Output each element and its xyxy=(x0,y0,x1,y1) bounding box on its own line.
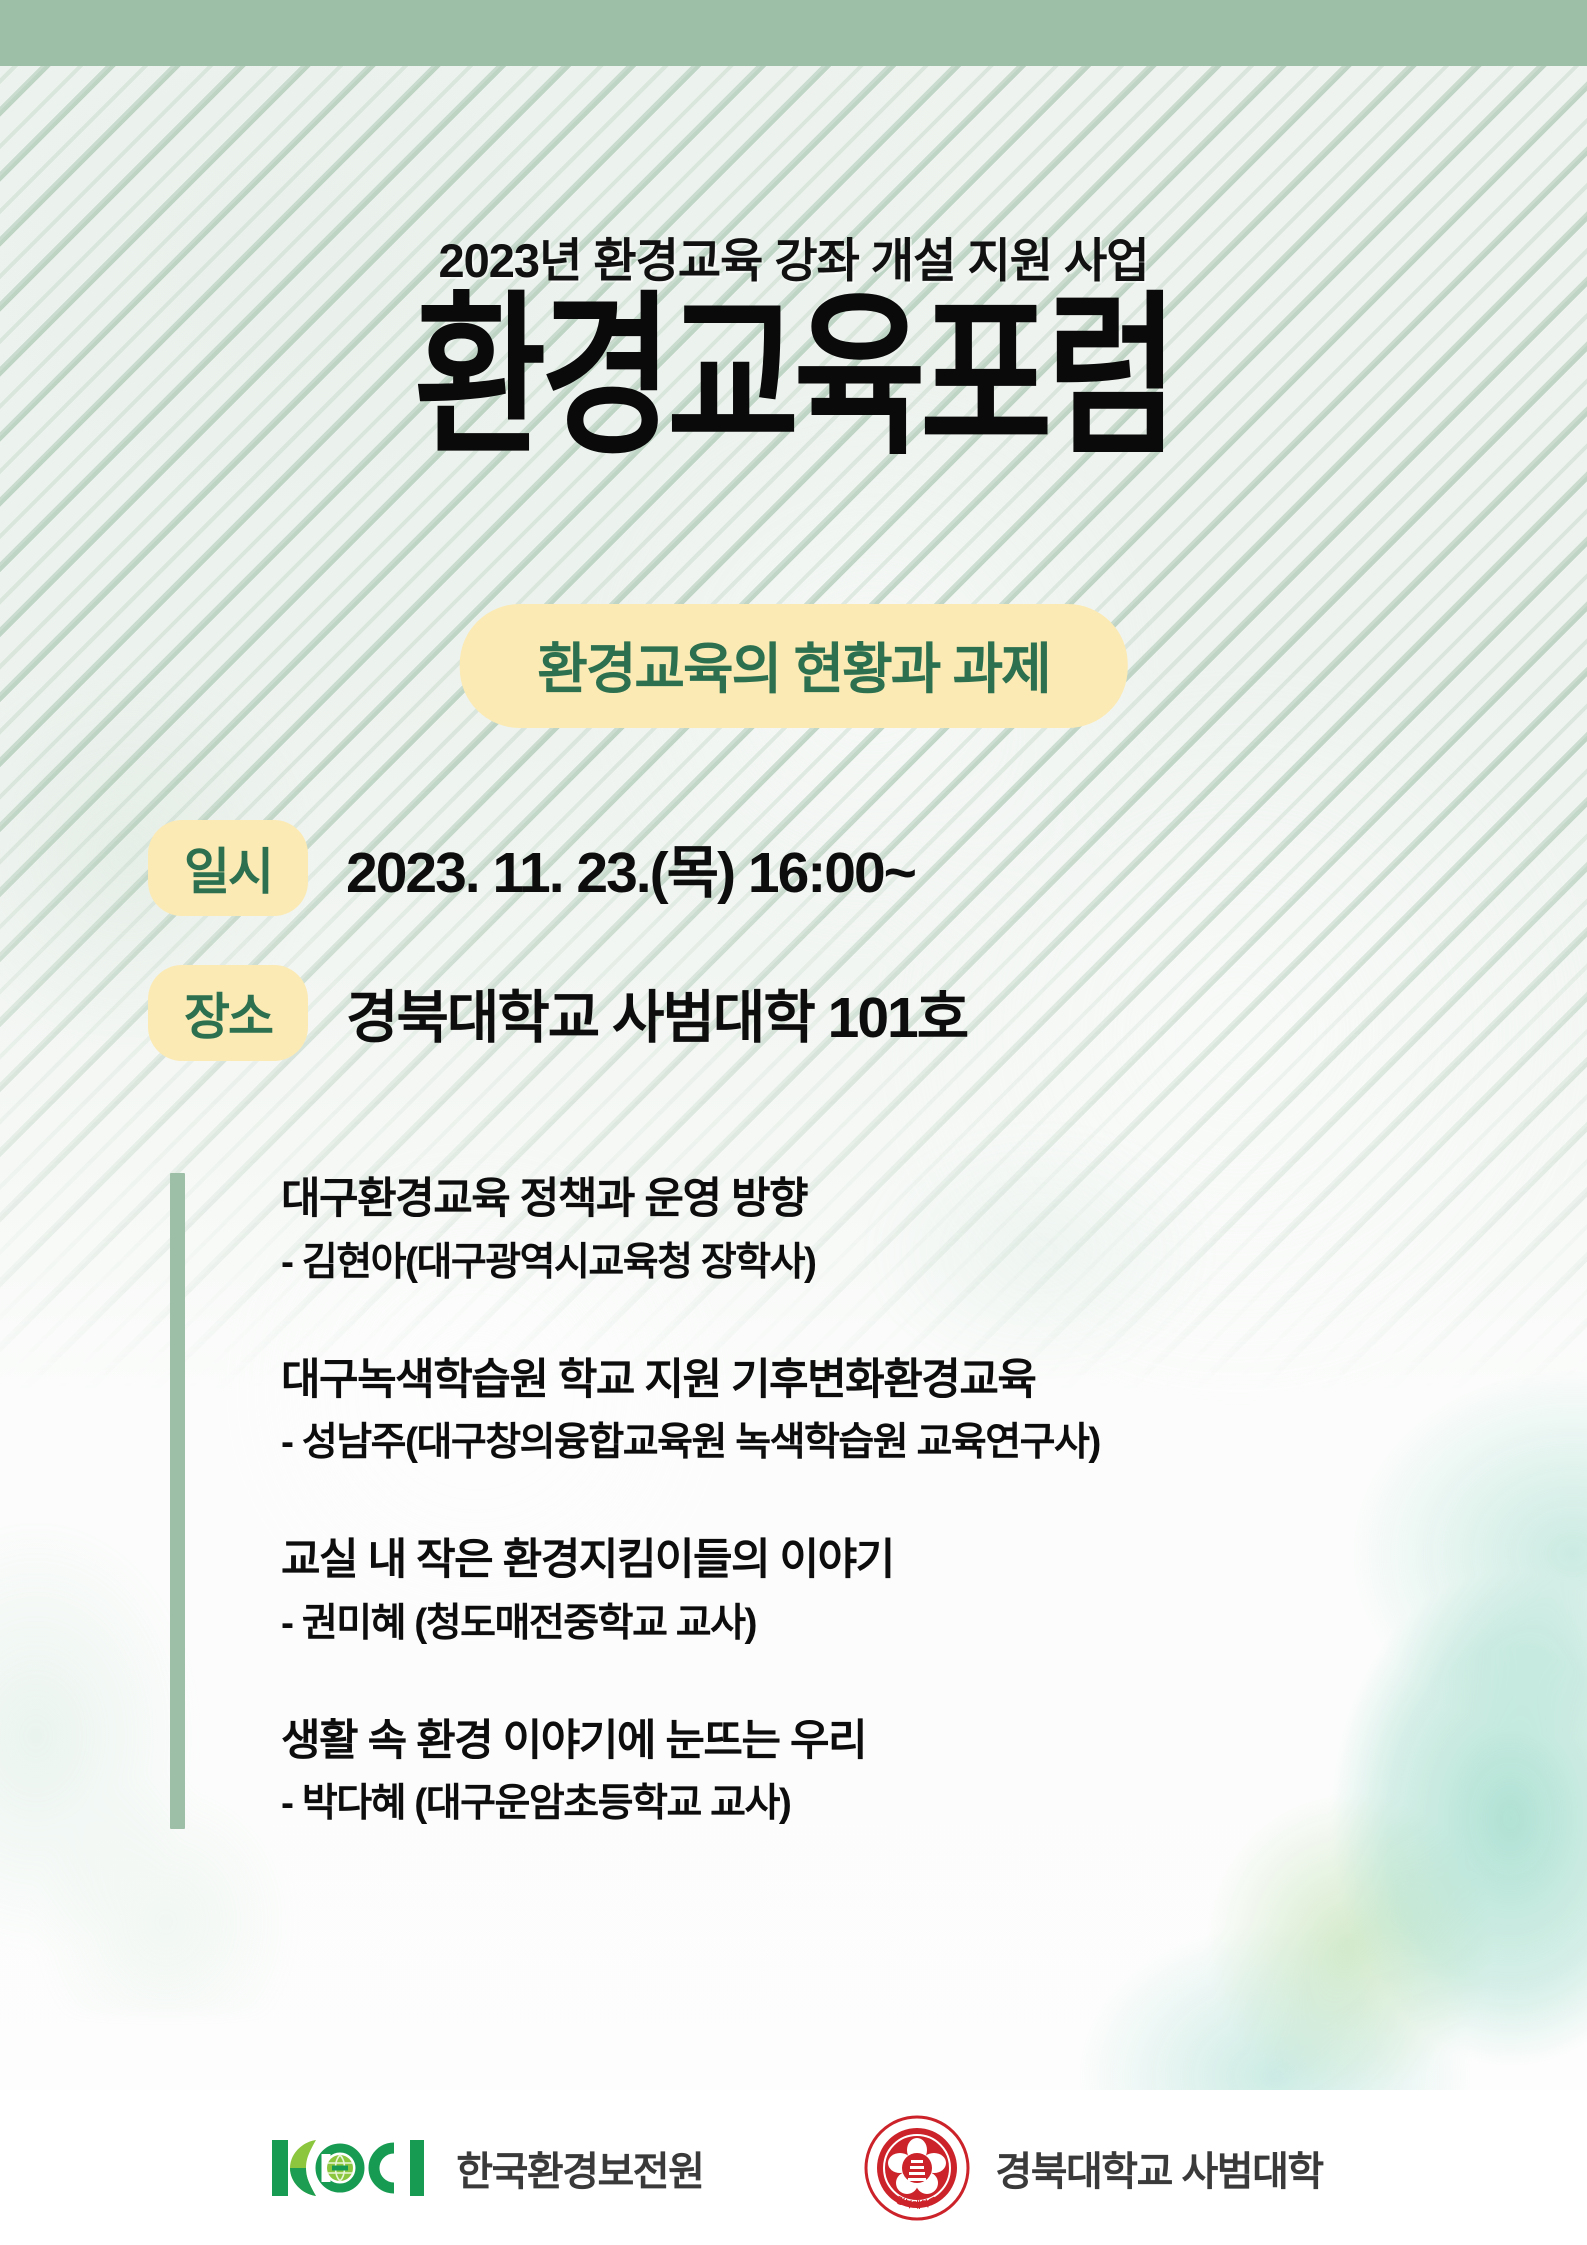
keci-logo-label: 한국환경보전원 xyxy=(456,2139,703,2197)
session-item: 대구환경교육 정책과 운영 방향 - 김현아(대구광역시교육청 장학사) xyxy=(281,1173,1100,1288)
session-title: 대구녹색학습원 학교 지원 기후변화환경교육 xyxy=(281,1354,1100,1408)
info-value-date: 2023. 11. 23.(목) 16:00~ xyxy=(346,827,915,909)
poster-title: 환경교육포럼 xyxy=(0,290,1587,466)
info-label-date: 일시 xyxy=(148,820,308,916)
knu-logo-label: 경북대학교 사범대학 xyxy=(995,2139,1322,2197)
keci-logo-icon xyxy=(264,2132,432,2204)
info-label-place: 장소 xyxy=(148,965,308,1061)
info-value-place: 경북대학교 사범대학 101호 xyxy=(346,972,967,1054)
logo-knu: KYUNGPOOK NATIONAL UNIVERSITY 경북대학교 경북대학… xyxy=(863,2114,1322,2222)
poster-content: 2023년 환경교육 강좌 개설 지원 사업 환경교육포럼 환경교육의 현황과 … xyxy=(0,0,1587,2245)
session-speaker: - 성남주(대구창의융합교육원 녹색학습원 교육연구사) xyxy=(281,1419,1100,1468)
session-item: 대구녹색학습원 학교 지원 기후변화환경교육 - 성남주(대구창의융합교육원 녹… xyxy=(281,1354,1100,1469)
knu-seal-icon: KYUNGPOOK NATIONAL UNIVERSITY 경북대학교 xyxy=(863,2114,971,2222)
session-title: 대구환경교육 정책과 운영 방향 xyxy=(281,1173,1100,1227)
session-title: 교실 내 작은 환경지킴이들의 이야기 xyxy=(281,1534,1100,1588)
poster-subtitle-pill: 환경교육의 현황과 과제 xyxy=(459,604,1128,728)
session-item: 생활 속 환경 이야기에 눈뜨는 우리 - 박다혜 (대구운암초등학교 교사) xyxy=(281,1715,1100,1830)
session-item: 교실 내 작은 환경지킴이들의 이야기 - 권미혜 (청도매전중학교 교사) xyxy=(281,1534,1100,1649)
program-sessions: 대구환경교육 정책과 운영 방향 - 김현아(대구광역시교육청 장학사) 대구녹… xyxy=(281,1173,1100,1829)
program-accent-bar xyxy=(170,1173,185,1829)
poster: 2023년 환경교육 강좌 개설 지원 사업 환경교육포럼 환경교육의 현황과 … xyxy=(0,0,1587,2245)
session-speaker: - 김현아(대구광역시교육청 장학사) xyxy=(281,1239,1100,1288)
info-row-place: 장소 경북대학교 사범대학 101호 xyxy=(148,965,967,1061)
session-title: 생활 속 환경 이야기에 눈뜨는 우리 xyxy=(281,1715,1100,1769)
session-speaker: - 권미혜 (청도매전중학교 교사) xyxy=(281,1600,1100,1649)
footer-logos: 한국환경보전원 xyxy=(0,2090,1587,2245)
session-speaker: - 박다혜 (대구운암초등학교 교사) xyxy=(281,1780,1100,1829)
info-row-date: 일시 2023. 11. 23.(목) 16:00~ xyxy=(148,820,915,916)
logo-keci: 한국환경보전원 xyxy=(264,2132,703,2204)
program-list: 대구환경교육 정책과 운영 방향 - 김현아(대구광역시교육청 장학사) 대구녹… xyxy=(170,1173,1100,1829)
